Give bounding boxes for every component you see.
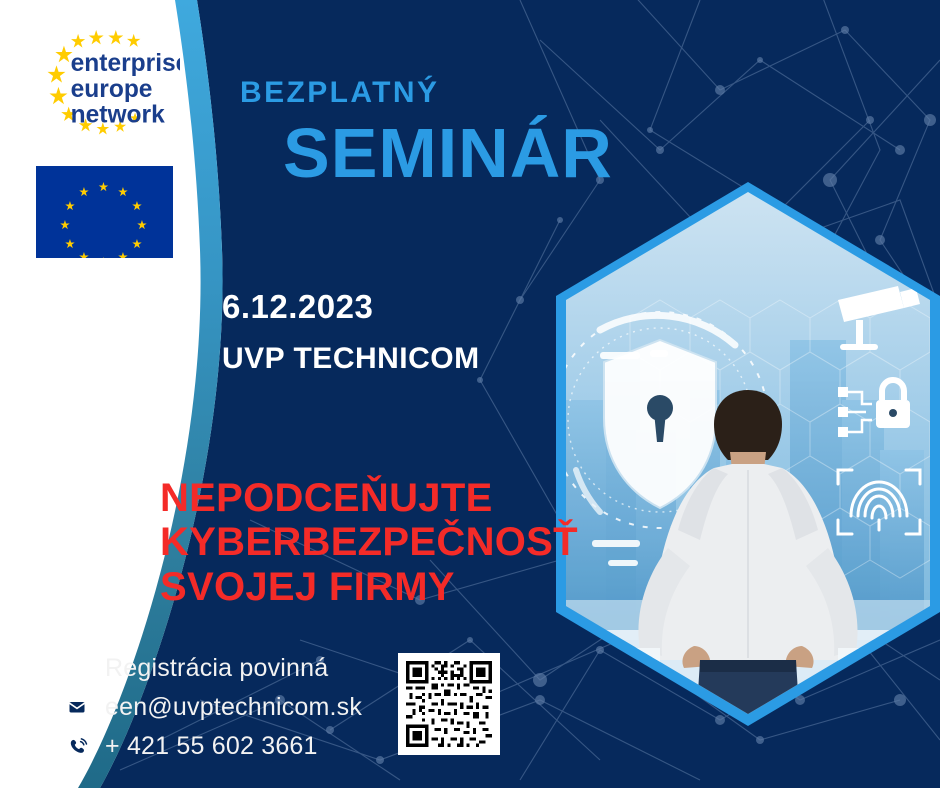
- seminar-poster: enterprise europe network BEZPLATNÝ SEMI…: [0, 0, 940, 788]
- event-venue: UVP TECHNICOM: [222, 342, 480, 376]
- een-logo-line-1: enterprise: [71, 50, 180, 77]
- envelope-icon: [62, 692, 92, 722]
- contact-row-registration: Registrácia povinná: [62, 650, 362, 686]
- slogan-line-1: NEPODCEŇUJTE: [160, 476, 578, 520]
- contact-row-email[interactable]: een@uvptechnicom.sk: [62, 689, 362, 725]
- eu-flag-icon: [36, 166, 173, 258]
- qr-code-image[interactable]: [403, 658, 495, 750]
- een-logo: enterprise europe network: [30, 28, 180, 138]
- contact-row-phone[interactable]: + 421 55 602 3661: [62, 728, 362, 764]
- contact-text-email[interactable]: een@uvptechnicom.sk: [105, 693, 362, 722]
- page-title: SEMINÁR: [283, 118, 613, 188]
- phone-icon: [62, 731, 92, 761]
- slogan-text: NEPODCEŇUJTE KYBERBEZPEČNOSŤ SVOJEJ FIRM…: [160, 476, 578, 609]
- contact-list: Registrácia povinná een@uvptechnicom.sk …: [62, 650, 362, 767]
- een-logo-line-2: europe: [71, 76, 153, 103]
- info-circle-icon: [62, 653, 92, 683]
- kicker-text: BEZPLATNÝ: [240, 76, 439, 110]
- contact-text-phone[interactable]: + 421 55 602 3661: [105, 732, 318, 761]
- event-date: 6.12.2023: [222, 288, 373, 326]
- slogan-line-3: SVOJEJ FIRMY: [160, 565, 578, 609]
- qr-code[interactable]: [398, 653, 500, 755]
- slogan-line-2: KYBERBEZPEČNOSŤ: [160, 520, 578, 564]
- contact-text-registration: Registrácia povinná: [105, 654, 328, 683]
- een-logo-line-3: network: [71, 101, 165, 128]
